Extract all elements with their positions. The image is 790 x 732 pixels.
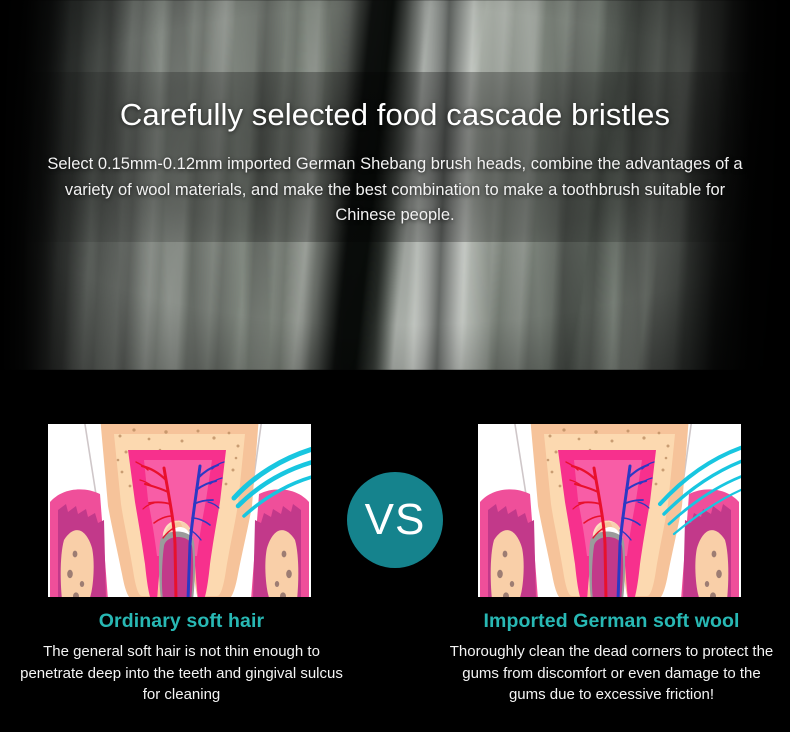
comparison-image-left: [48, 424, 311, 597]
tooth-cross-section-ordinary-bristles: [48, 424, 311, 597]
caption-left: Ordinary soft hair The general soft hair…: [4, 610, 359, 705]
caption-left-heading: Ordinary soft hair: [4, 610, 359, 633]
hero-title: Carefully selected food cascade bristles: [0, 0, 790, 132]
caption-right-heading: Imported German soft wool: [434, 610, 789, 633]
hero-copy: Carefully selected food cascade bristles…: [0, 0, 790, 229]
hero-subtitle: Select 0.15mm-0.12mm imported German She…: [40, 132, 750, 229]
caption-right: Imported German soft wool Thoroughly cle…: [434, 610, 789, 705]
hero-banner: Carefully selected food cascade bristles…: [0, 0, 790, 370]
product-detail-page: Carefully selected food cascade bristles…: [0, 0, 790, 732]
caption-left-description: The general soft hair is not thin enough…: [13, 641, 351, 705]
caption-right-description: Thoroughly clean the dead corners to pro…: [443, 641, 781, 705]
comparison-section: VS: [0, 370, 790, 732]
vs-badge: VS: [347, 472, 443, 568]
comparison-image-right: [478, 424, 741, 597]
vs-label: VS: [365, 498, 426, 542]
tooth-cross-section-german-bristles: [478, 424, 741, 597]
